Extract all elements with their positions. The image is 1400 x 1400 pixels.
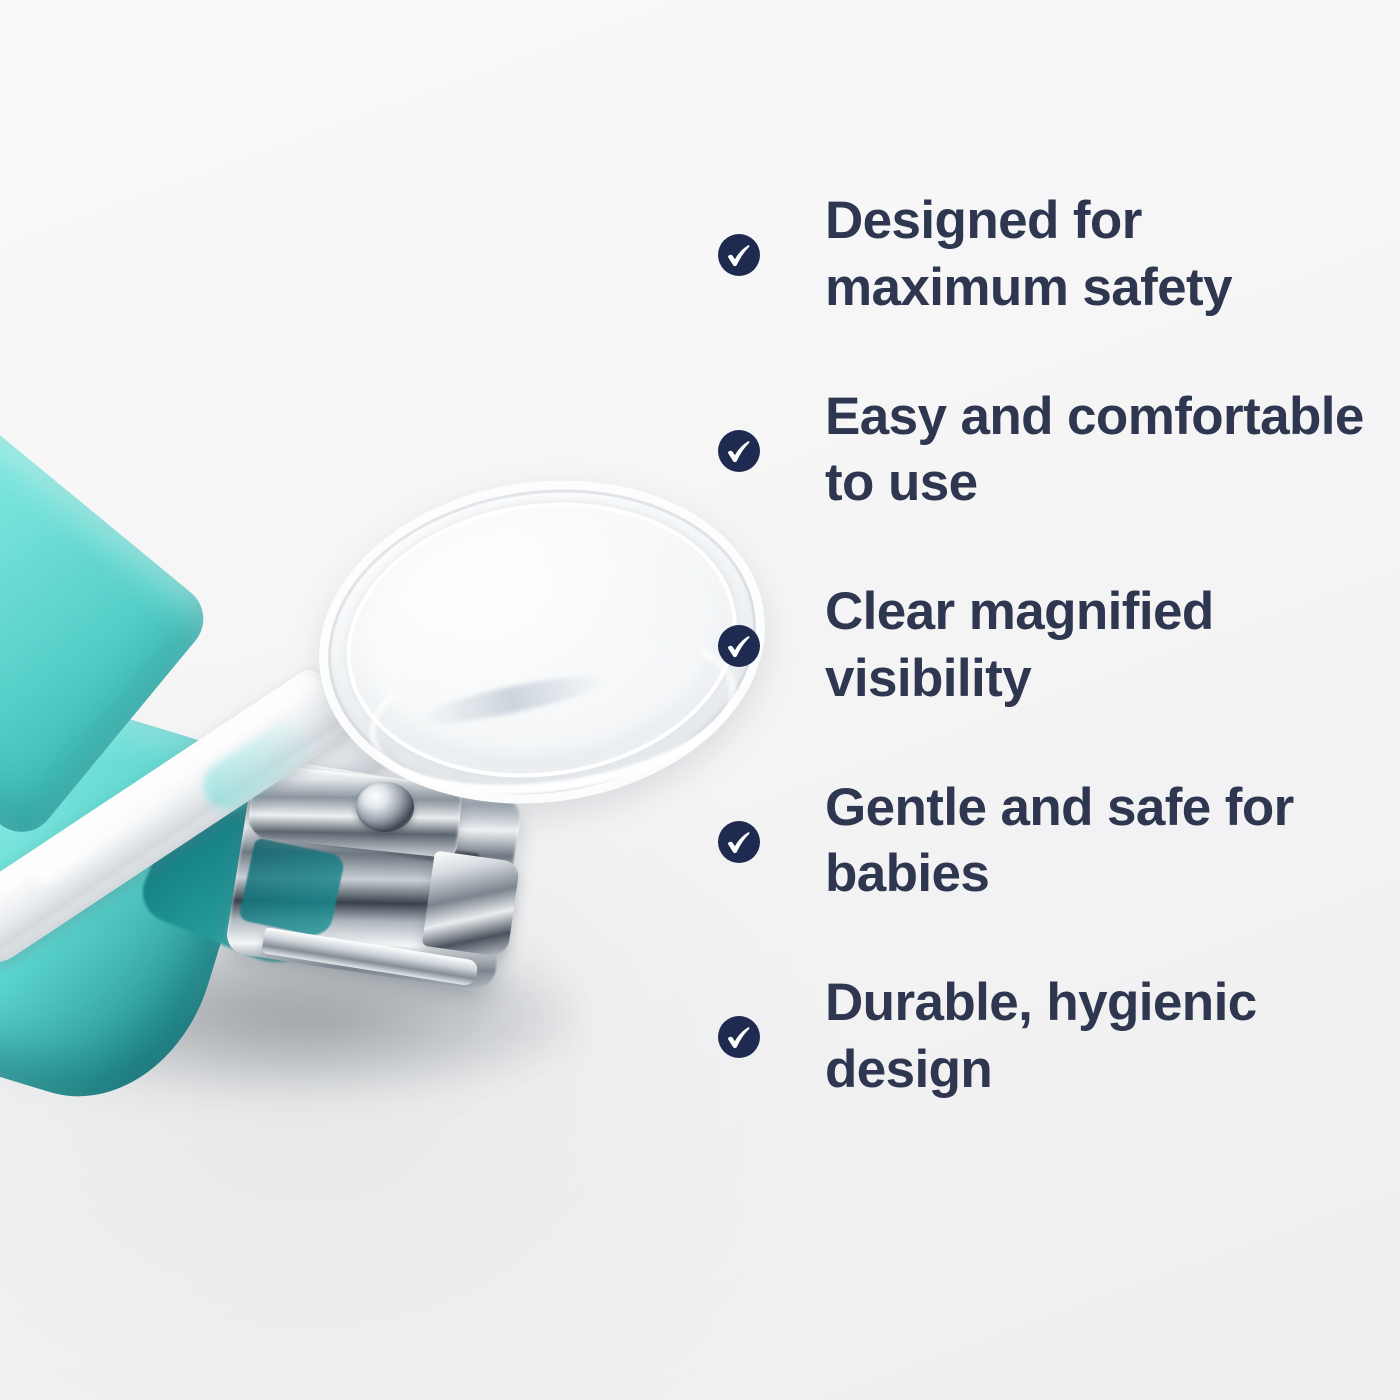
feature-item-comfort: Easy and comfortable to use [706, 384, 1374, 518]
feature-list: Designed for maximum safety Easy and com… [700, 0, 1400, 1400]
chrome-pivot-rivet [356, 782, 414, 832]
infographic-canvas: Designed for maximum safety Easy and com… [0, 0, 1400, 1400]
product-image [0, 0, 700, 1400]
check-circle-icon [706, 809, 772, 875]
check-circle-icon [706, 613, 772, 679]
feature-item-safety: Designed for maximum safety [706, 188, 1374, 322]
check-circle-icon [706, 1004, 772, 1070]
check-circle-icon [706, 222, 772, 288]
feature-item-gentle: Gentle and safe for babies [706, 775, 1374, 909]
feature-item-durability: Durable, hygienic design [706, 970, 1374, 1104]
feature-item-visibility: Clear magnified visibility [706, 579, 1374, 713]
feature-label: Gentle and safe for babies [825, 775, 1374, 909]
feature-label: Clear magnified visibility [825, 579, 1374, 713]
feature-label: Designed for maximum safety [825, 188, 1374, 322]
feature-label: Durable, hygienic design [825, 970, 1374, 1104]
chrome-cutting-jaw [422, 850, 521, 957]
check-circle-icon [706, 418, 772, 484]
feature-label: Easy and comfortable to use [825, 384, 1374, 518]
